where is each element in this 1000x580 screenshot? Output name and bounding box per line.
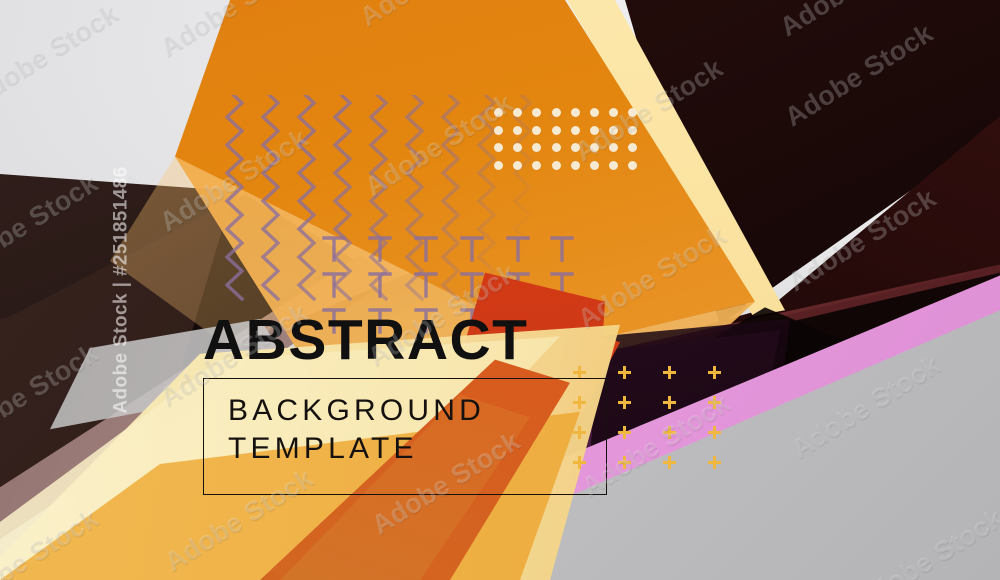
dot-grid-pattern <box>494 108 648 178</box>
subtitle-block: BACKGROUND TEMPLATE <box>228 392 485 469</box>
abstract-background-canvas: ABSTRACT BACKGROUND TEMPLATE Adobe Stock… <box>0 0 1000 580</box>
subtitle-line-2: TEMPLATE <box>228 430 485 468</box>
headline-abstract: ABSTRACT <box>203 312 528 369</box>
subtitle-line-1: BACKGROUND <box>228 394 485 427</box>
